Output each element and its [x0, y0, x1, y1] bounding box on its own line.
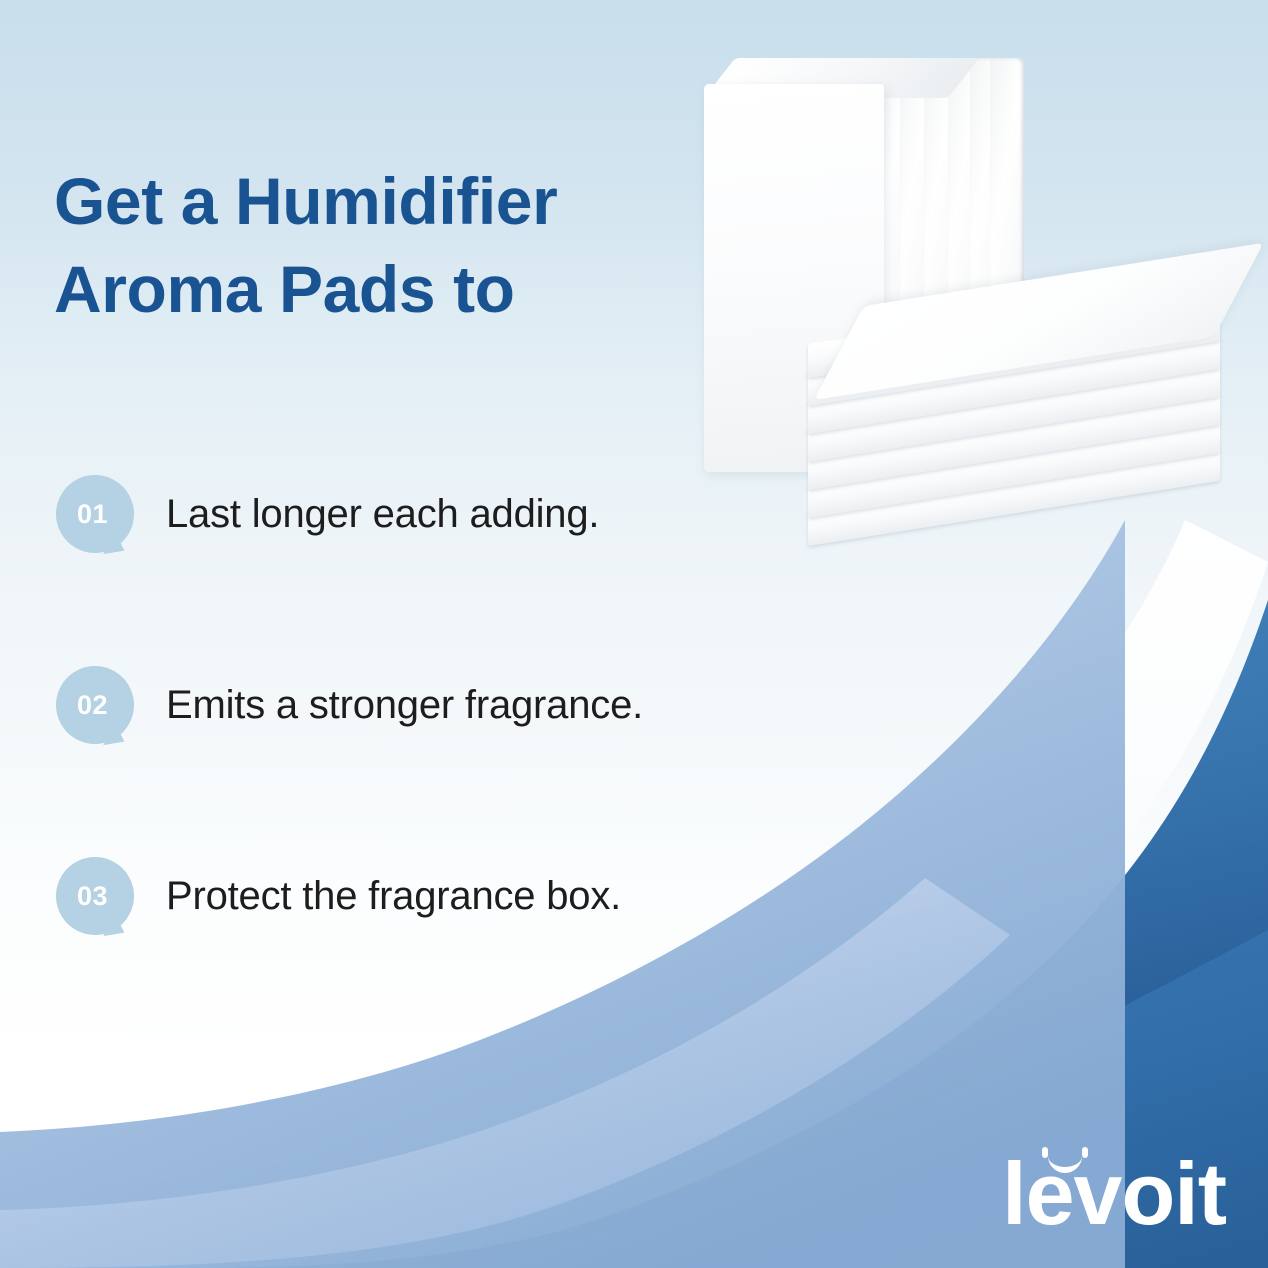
headline-line-2: Aroma Pads to — [54, 246, 694, 334]
badge-number: 02 — [56, 666, 134, 744]
list-item: 02 Emits a stronger fragrance. — [56, 653, 896, 757]
headline-line-1: Get a Humidifier — [54, 158, 694, 246]
feature-text: Last longer each adding. — [166, 490, 599, 538]
feature-text: Emits a stronger fragrance. — [166, 681, 643, 729]
brand-logo: levoit — [1002, 1150, 1226, 1238]
page-title: Get a Humidifier Aroma Pads to — [54, 158, 694, 334]
number-badge-01: 01 — [56, 475, 134, 553]
logo-wordmark: levoit — [1002, 1150, 1226, 1238]
feature-text: Protect the fragrance box. — [166, 872, 621, 920]
list-item: 03 Protect the fragrance box. — [56, 844, 896, 948]
badge-number: 03 — [56, 857, 134, 935]
number-badge-03: 03 — [56, 857, 134, 935]
badge-number: 01 — [56, 475, 134, 553]
poster-canvas: Get a Humidifier Aroma Pads to 01 Last l… — [0, 0, 1268, 1268]
list-item: 01 Last longer each adding. — [56, 462, 896, 566]
number-badge-02: 02 — [56, 666, 134, 744]
feature-list: 01 Last longer each adding. 02 Emits a s… — [56, 462, 896, 948]
